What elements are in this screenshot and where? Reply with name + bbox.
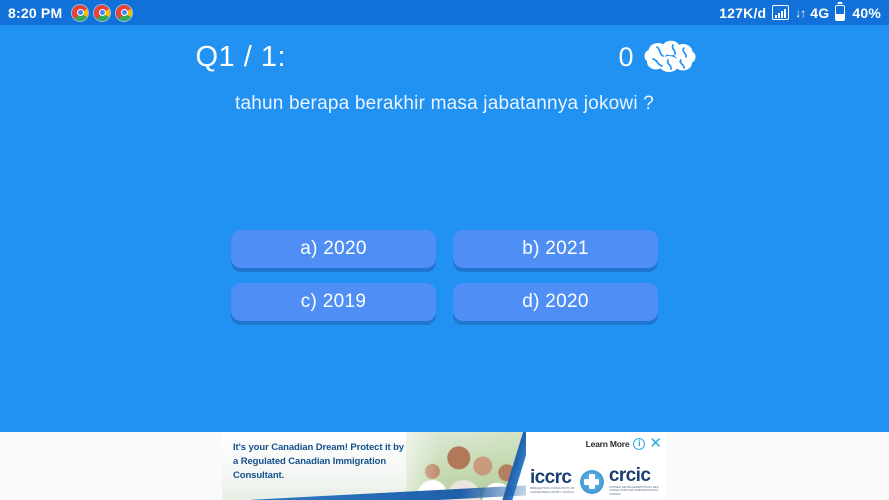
maple-cross-logo-icon xyxy=(580,470,604,494)
answer-options: a) 2020 b) 2021 c) 2019 d) 2020 xyxy=(0,230,889,321)
ad-right-panel: Learn More i ✕ iccrc IMMIGRATION CONSULT… xyxy=(526,432,665,500)
quiz-content: Q1 / 1: 0 xyxy=(180,25,710,115)
iccrc-logo-text: iccrc xyxy=(530,467,571,488)
answer-row: a) 2020 b) 2021 xyxy=(231,230,658,268)
battery-icon xyxy=(835,5,845,21)
question-counter: Q1 / 1: xyxy=(196,41,287,74)
crcic-logo: crcic CONSEIL DE REGLEMENTATION DES CONS… xyxy=(609,467,665,496)
chrome-icon[interactable] xyxy=(94,5,110,21)
ad-banner[interactable]: It's your Canadian Dream! Protect it by … xyxy=(222,432,665,500)
ad-learn-more-link[interactable]: Learn More xyxy=(586,439,630,449)
quiz-page: Q1 / 1: 0 xyxy=(0,25,889,432)
crcic-logo-text: crcic xyxy=(609,465,650,486)
status-bar-right: 127K/d ↓↑ 4G 40% xyxy=(719,5,881,21)
network-arrows-icon: ↓↑ xyxy=(795,7,805,19)
crcic-logo-subtext: CONSEIL DE REGLEMENTATION DES CONSULTANT… xyxy=(609,486,665,496)
score-display: 0 xyxy=(618,40,695,74)
chrome-icon[interactable] xyxy=(116,5,132,21)
answer-button-b[interactable]: b) 2021 xyxy=(453,230,658,268)
app-screen: 8:20 PM 127K/d ↓↑ 4G 40% Q1 / 1: 0 xyxy=(0,0,889,500)
chrome-icon[interactable] xyxy=(72,5,88,21)
ad-logos: iccrc IMMIGRATION CONSULTANTS OF CANADA … xyxy=(530,467,665,496)
answer-row: c) 2019 d) 2020 xyxy=(231,283,658,321)
status-bar-clock: 8:20 PM xyxy=(8,5,62,21)
ad-controls: Learn More i ✕ xyxy=(586,436,662,451)
status-bar: 8:20 PM 127K/d ↓↑ 4G 40% xyxy=(0,0,889,25)
network-type-label: 4G xyxy=(810,5,829,21)
question-text: tahun berapa berakhir masa jabatannya jo… xyxy=(180,93,710,115)
ad-area: It's your Canadian Dream! Protect it by … xyxy=(0,432,889,500)
status-bar-left: 8:20 PM xyxy=(8,5,132,21)
signal-bars-icon xyxy=(772,5,789,20)
question-header: Q1 / 1: 0 xyxy=(180,31,710,83)
answer-button-a[interactable]: a) 2020 xyxy=(231,230,436,268)
brain-icon xyxy=(644,40,696,74)
score-value: 0 xyxy=(618,42,633,73)
info-icon[interactable]: i xyxy=(633,438,645,450)
iccrc-logo-subtext: IMMIGRATION CONSULTANTS OF CANADA REGULA… xyxy=(530,487,575,494)
data-rate-label: 127K/d xyxy=(719,5,766,21)
close-icon[interactable]: ✕ xyxy=(649,436,662,451)
answer-button-c[interactable]: c) 2019 xyxy=(231,283,436,321)
answer-button-d[interactable]: d) 2020 xyxy=(453,283,658,321)
iccrc-logo: iccrc IMMIGRATION CONSULTANTS OF CANADA … xyxy=(530,469,575,494)
battery-percent-label: 40% xyxy=(852,5,881,21)
ad-headline: It's your Canadian Dream! Protect it by … xyxy=(233,441,433,482)
